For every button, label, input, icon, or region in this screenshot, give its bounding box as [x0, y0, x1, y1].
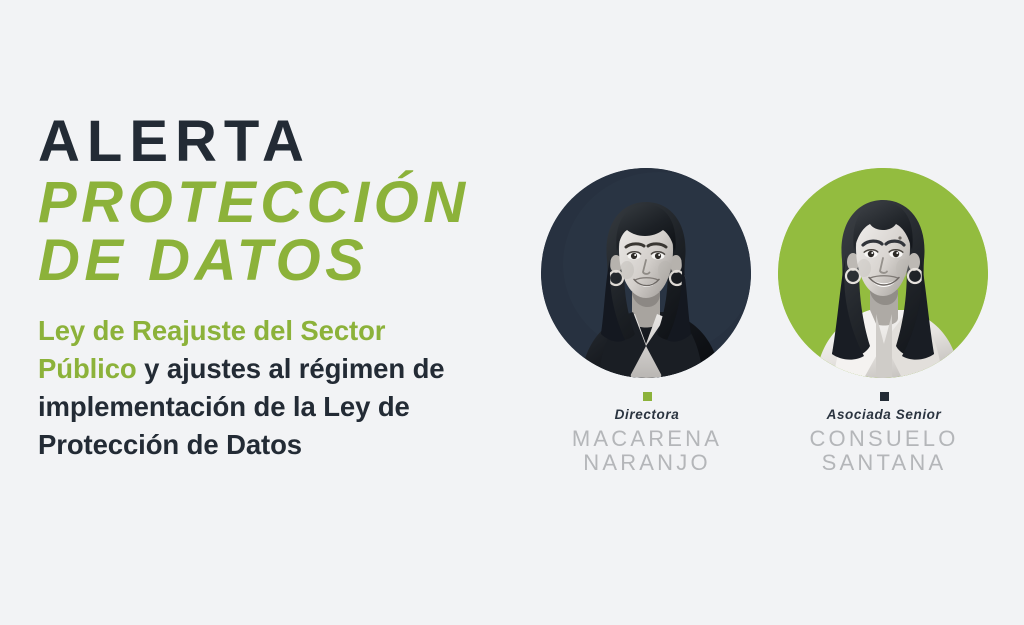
role-marker	[643, 392, 652, 401]
person-name-line-2: SANTANA	[778, 451, 990, 475]
person-name-line-2: NARANJO	[541, 451, 753, 475]
person-card-consuelo-santana: Asociada Senior CONSUELO SANTANA	[778, 168, 990, 475]
portrait-macarena-naranjo	[541, 168, 751, 378]
subhead-text: Ley de Reajuste del Sector Público y aju…	[38, 312, 488, 464]
person-card-macarena-naranjo: Directora MACARENA NARANJO	[541, 168, 753, 475]
person-role: Directora	[541, 407, 753, 423]
people-group: Directora MACARENA NARANJO	[520, 168, 1020, 478]
person-name: CONSUELO SANTANA	[778, 427, 990, 475]
person-name: MACARENA NARANJO	[541, 427, 753, 475]
role-marker	[880, 392, 889, 401]
headline-kicker: ALERTA	[38, 112, 558, 172]
portrait-consuelo-santana	[778, 168, 988, 378]
avatar	[778, 168, 988, 378]
avatar	[541, 168, 751, 378]
person-role: Asociada Senior	[778, 407, 990, 423]
headline-line-2: DE DATOS	[38, 232, 558, 290]
headline-line-1: PROTECCIÓN	[38, 174, 558, 232]
person-name-line-1: MACARENA	[541, 427, 753, 451]
alert-banner: ALERTA PROTECCIÓN DE DATOS Ley de Reajus…	[0, 0, 1024, 625]
person-name-line-1: CONSUELO	[778, 427, 990, 451]
headline-block: ALERTA PROTECCIÓN DE DATOS	[38, 112, 558, 290]
